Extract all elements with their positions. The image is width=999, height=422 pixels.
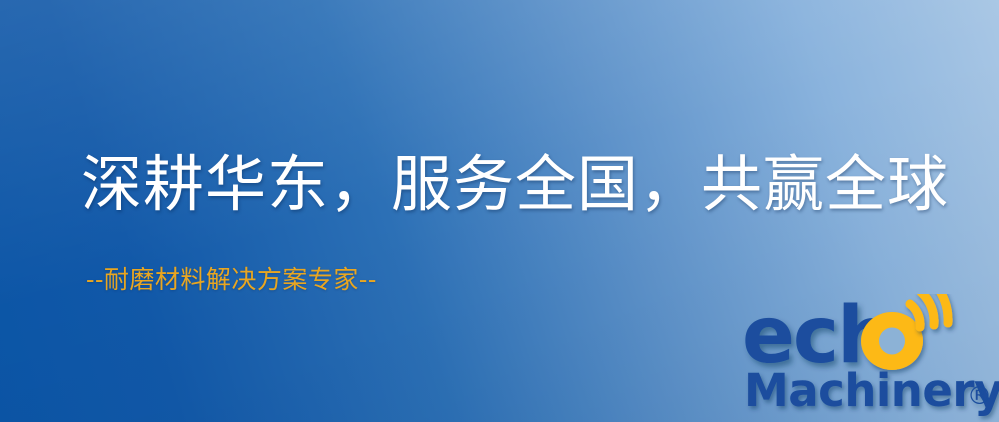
logo-text-machinery: Machinery [744, 364, 999, 417]
logo-letter-o [861, 312, 923, 370]
logo-tagline-group: Machinery ® [744, 364, 999, 417]
company-logo[interactable]: ech Machinery ® [742, 294, 999, 422]
banner-headline: 深耕华东，服务全国，共赢全球 [81, 152, 949, 218]
banner-subtitle: --耐磨材料解决方案专家-- [86, 266, 377, 295]
hero-banner: 深耕华东，服务全国，共赢全球 --耐磨材料解决方案专家-- ech [0, 0, 999, 422]
logo-trademark-symbol: ® [967, 381, 992, 410]
signal-waves-icon [910, 294, 948, 327]
logo-artwork: ech Machinery ® [742, 294, 999, 422]
